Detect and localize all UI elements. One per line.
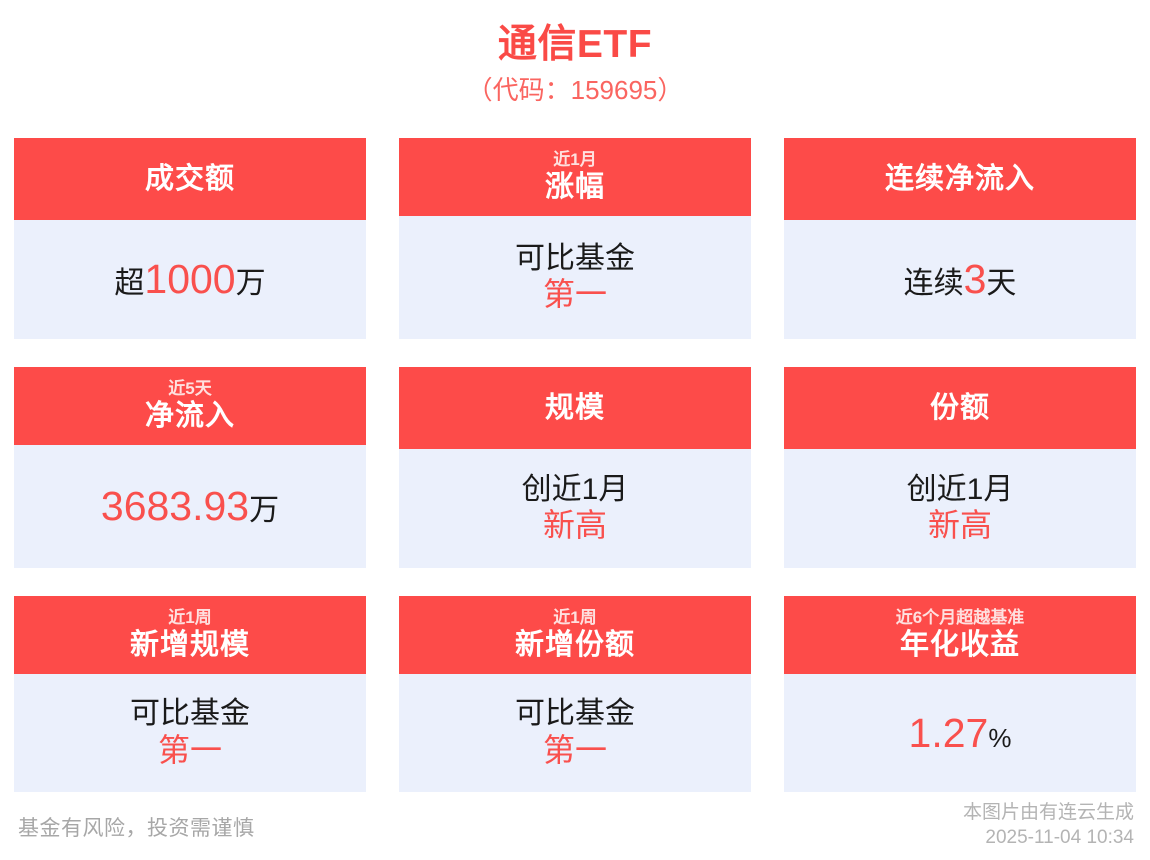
metric-card-eyebrow: 近1月: [553, 149, 596, 170]
metric-card: 近1周新增份额可比基金第一: [399, 596, 751, 792]
metric-card-eyebrow: 近6个月超越基准: [896, 607, 1024, 628]
metric-card-body: 3683.93万: [14, 445, 366, 568]
title-block: 通信ETF （代码：159695）: [0, 0, 1150, 107]
metric-value-label: 可比基金: [515, 241, 635, 276]
metric-card-body: 可比基金第一: [14, 674, 366, 792]
metric-card: 成交额超1000万: [14, 138, 366, 339]
metric-card-body: 1.27%: [784, 674, 1136, 792]
metric-card-body: 可比基金第一: [399, 674, 751, 792]
metric-card-title: 成交额: [145, 162, 235, 197]
metric-card-title: 规模: [545, 391, 605, 426]
footer: 基金有风险，投资需谨慎 本图片由有连云生成 2025-11-04 10:34: [0, 795, 1150, 855]
metric-card-title: 年化收益: [900, 628, 1020, 663]
image-credit-source: 本图片由有连云生成: [963, 800, 1134, 825]
metric-card: 份额创近1月新高: [784, 367, 1136, 568]
metric-card-title: 新增份额: [515, 628, 635, 663]
metric-value-highlight: 第一: [158, 732, 222, 770]
metric-card: 近6个月超越基准年化收益1.27%: [784, 596, 1136, 792]
metric-card-title: 份额: [930, 391, 990, 426]
metric-value-part: 天: [986, 258, 1016, 302]
metric-value-part: 3: [964, 256, 987, 303]
metric-card-grid: 成交额超1000万近1月涨幅可比基金第一连续净流入连续3天近5天净流入3683.…: [14, 138, 1136, 792]
metric-card-header: 近5天净流入: [14, 367, 366, 445]
metric-value-label: 可比基金: [515, 696, 635, 731]
metric-card-header: 成交额: [14, 138, 366, 220]
metric-value-highlight: 新高: [543, 507, 607, 545]
metric-value-part: %: [988, 723, 1011, 754]
metric-card-body: 连续3天: [784, 220, 1136, 339]
metric-card-body: 超1000万: [14, 220, 366, 339]
metric-card-title: 新增规模: [130, 628, 250, 663]
metric-value-label: 创近1月: [522, 472, 629, 507]
metric-value: 3683.93万: [101, 483, 279, 530]
metric-value-part: 超: [114, 258, 144, 302]
metric-card-header: 份额: [784, 367, 1136, 449]
metric-value-part: 3683.93: [101, 483, 249, 530]
image-credit: 本图片由有连云生成 2025-11-04 10:34: [963, 800, 1134, 850]
metric-card-body: 创近1月新高: [399, 449, 751, 568]
metric-card-eyebrow: 近5天: [168, 378, 211, 399]
fund-code-subtitle: （代码：159695）: [0, 73, 1150, 107]
metric-card-header: 近1周新增规模: [14, 596, 366, 674]
metric-card-body: 创近1月新高: [784, 449, 1136, 568]
metric-value-highlight: 第一: [543, 276, 607, 314]
metric-card: 连续净流入连续3天: [784, 138, 1136, 339]
metric-value-part: 1000: [144, 256, 235, 303]
metric-card-header: 连续净流入: [784, 138, 1136, 220]
metric-card-eyebrow: 近1周: [553, 607, 596, 628]
metric-value-part: 万: [236, 258, 266, 302]
metric-card-header: 规模: [399, 367, 751, 449]
metric-value-highlight: 第一: [543, 732, 607, 770]
risk-disclaimer: 基金有风险，投资需谨慎: [18, 812, 255, 842]
metric-card-title: 净流入: [145, 399, 235, 434]
metric-value-part: 连续: [904, 258, 964, 302]
image-credit-timestamp: 2025-11-04 10:34: [963, 825, 1134, 850]
metric-value: 1.27%: [909, 710, 1012, 757]
metric-card-header: 近6个月超越基准年化收益: [784, 596, 1136, 674]
metric-value: 超1000万: [114, 256, 265, 303]
page-title: 通信ETF: [0, 22, 1150, 68]
metric-value-part: 1.27: [909, 710, 989, 757]
metric-value-label: 创近1月: [907, 472, 1014, 507]
metric-card-eyebrow: 近1周: [168, 607, 211, 628]
metric-card-title: 涨幅: [545, 170, 605, 205]
metric-card-body: 可比基金第一: [399, 216, 751, 339]
metric-card: 近5天净流入3683.93万: [14, 367, 366, 568]
metric-card: 规模创近1月新高: [399, 367, 751, 568]
metric-value-part: 万: [249, 485, 279, 529]
metric-value: 连续3天: [904, 256, 1017, 303]
metric-card-header: 近1周新增份额: [399, 596, 751, 674]
metric-card: 近1月涨幅可比基金第一: [399, 138, 751, 339]
metric-card: 近1周新增规模可比基金第一: [14, 596, 366, 792]
metric-value-highlight: 新高: [928, 507, 992, 545]
metric-card-title: 连续净流入: [885, 162, 1035, 197]
metric-card-header: 近1月涨幅: [399, 138, 751, 216]
metric-value-label: 可比基金: [130, 696, 250, 731]
